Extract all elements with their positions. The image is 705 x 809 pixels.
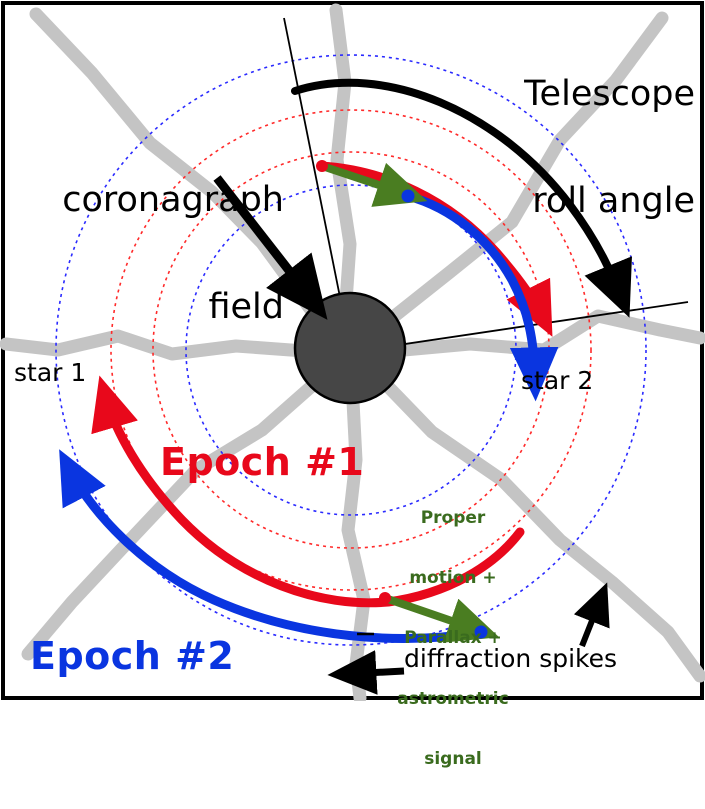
coronagraph-disk — [295, 293, 405, 403]
label-telescope-roll-angle: Telescope roll angle — [524, 6, 695, 292]
label-proper-motion-line5: signal — [388, 749, 518, 769]
diagram-canvas: Telescope roll angle coronagraph field s… — [0, 0, 705, 701]
label-coronagraph-field-line1: coronagraph — [14, 183, 284, 219]
label-epoch-2: Epoch #2 — [30, 637, 234, 676]
label-diffraction-spikes: diffraction spikes — [404, 646, 617, 672]
epoch1-endpoint-top — [316, 160, 328, 172]
label-coronagraph-field: coronagraph field — [14, 112, 284, 398]
label-telescope-roll-angle-line1: Telescope — [524, 77, 695, 113]
label-epoch-1: Epoch #1 — [160, 443, 364, 482]
label-telescope-roll-angle-line2: roll angle — [524, 184, 695, 220]
label-proper-motion-line2: motion + — [388, 568, 518, 588]
label-proper-motion-line4: astrometric — [388, 689, 518, 709]
label-coronagraph-field-line2: field — [14, 290, 284, 326]
label-proper-motion-annotation: Proper motion + Parallax + astrometric s… — [388, 468, 518, 809]
label-star-1: star 1 — [14, 360, 86, 386]
label-star-2: star 2 — [521, 368, 593, 394]
label-proper-motion-line1: Proper — [388, 508, 518, 528]
epoch2-endpoint-top — [402, 190, 415, 203]
